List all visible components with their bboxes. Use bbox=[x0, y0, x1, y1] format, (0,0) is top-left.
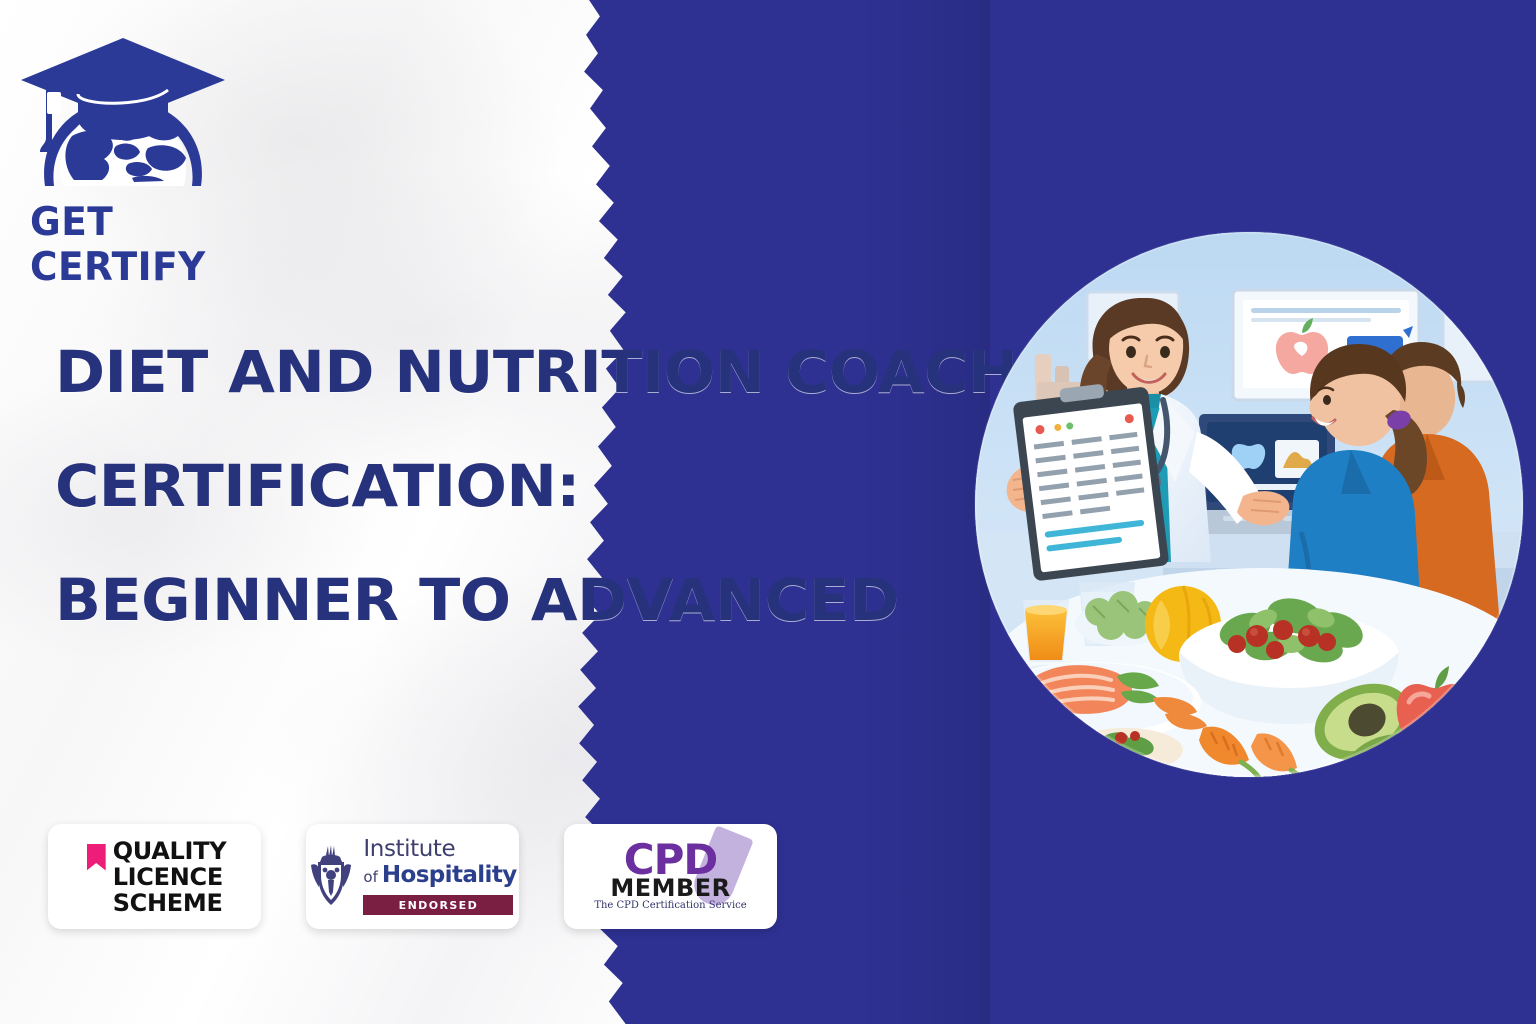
brand-logo[interactable]: GET CERTIFY bbox=[16, 28, 231, 228]
qls-line-2: LICENCE bbox=[113, 864, 227, 890]
nutritionist-consultation-illustration bbox=[975, 232, 1523, 777]
ioh-line-institute: Institute bbox=[363, 838, 516, 861]
page-title-line-1: DIET AND NUTRITION COACH bbox=[55, 315, 918, 429]
poster-canvas: GET CERTIFY DIET AND NUTRITION COACH CER… bbox=[0, 0, 1536, 1024]
page-title: DIET AND NUTRITION COACH CERTIFICATION: … bbox=[55, 315, 885, 657]
heraldic-crest-icon bbox=[308, 845, 354, 909]
graduation-cap-globe-icon bbox=[16, 28, 231, 228]
cpd-subtitle: The CPD Certification Service bbox=[564, 900, 777, 912]
qls-line-1: QUALITY bbox=[113, 838, 227, 864]
cpd-member-label: MEMBER bbox=[564, 876, 777, 900]
bookmark-flag-icon bbox=[87, 844, 106, 871]
qls-line-3: SCHEME bbox=[113, 890, 227, 916]
page-title-line-2: CERTIFICATION: bbox=[55, 429, 918, 543]
ioh-endorsed-banner: ENDORSED bbox=[363, 895, 513, 915]
page-title-line-3: BEGINNER TO ADVANCED bbox=[55, 543, 918, 657]
brand-logo-wordmark: GET CERTIFY bbox=[30, 200, 223, 290]
ioh-word-of: of bbox=[363, 868, 377, 886]
badge-institute-of-hospitality[interactable]: Institute of Hospitality ENDORSED bbox=[306, 824, 519, 929]
badge-quality-licence-scheme[interactable]: QUALITY LICENCE SCHEME bbox=[48, 824, 261, 929]
ioh-line-hospitality: Hospitality bbox=[382, 864, 517, 887]
badge-cpd-member[interactable]: CPD MEMBER The CPD Certification Service bbox=[564, 824, 777, 929]
accreditation-badges: QUALITY LICENCE SCHEME bbox=[48, 824, 777, 929]
